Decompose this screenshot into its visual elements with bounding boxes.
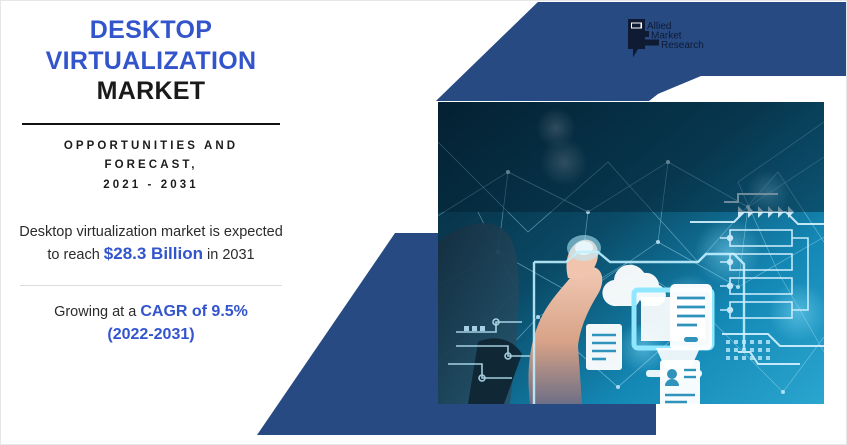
cagr-statement: Growing at a CAGR of 9.5%(2022-2031) <box>11 300 291 346</box>
title-line-1: DESKTOP <box>11 15 291 46</box>
cagr-lead-text: Growing at a <box>54 304 140 320</box>
id-card-icon <box>660 360 700 404</box>
title-accent-word: MARKET <box>11 76 291 107</box>
forecast-trail-text: in 2031 <box>203 247 255 263</box>
allied-market-research-logo: Allied Market Research <box>625 17 711 63</box>
infographic-card: Allied Market Research DESKTOP VIRTUALIZ… <box>0 0 847 445</box>
subtitle-line-3: 2021 - 2031 <box>11 176 291 196</box>
subtitle-line-2: FORECAST, <box>11 156 291 176</box>
subtitle-line-1: OPPORTUNITIES AND <box>11 137 291 157</box>
subtitle: OPPORTUNITIES AND FORECAST, 2021 - 2031 <box>11 137 291 196</box>
tablet-device-icon <box>670 284 712 350</box>
page-title: DESKTOP VIRTUALIZATION MARKET <box>11 15 291 107</box>
forecast-statement: Desktop virtualization market is expecte… <box>11 222 291 267</box>
document-icon <box>586 324 622 370</box>
hero-image <box>438 102 824 404</box>
hero-image-graphic <box>438 102 824 404</box>
title-line-2: VIRTUALIZATION <box>11 46 291 77</box>
forecast-value: $28.3 Billion <box>104 244 203 263</box>
logo-bar-2 <box>631 31 649 37</box>
logo-text-research: Research <box>661 40 704 51</box>
cagr-period: (2022-2031) <box>107 326 194 343</box>
divider-bottom <box>20 285 282 286</box>
text-column: DESKTOP VIRTUALIZATION MARKET OPPORTUNIT… <box>11 15 291 346</box>
cagr-value: CAGR of 9.5% <box>140 303 248 320</box>
divider-top <box>22 123 280 125</box>
